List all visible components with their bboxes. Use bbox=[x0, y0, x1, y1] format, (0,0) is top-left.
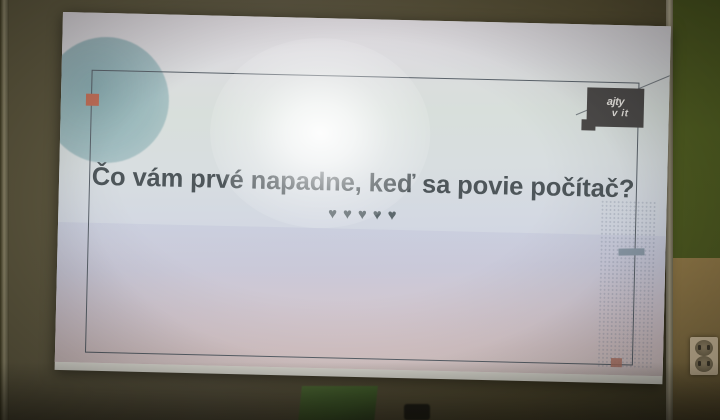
logo-line-1: ajty bbox=[607, 96, 625, 107]
heart-icon: ♥ bbox=[343, 207, 352, 222]
heart-icon: ♥ bbox=[387, 208, 396, 223]
logo-line-2: v it bbox=[602, 108, 629, 119]
decorative-terracotta-square bbox=[86, 94, 99, 106]
decorative-blue-tab bbox=[618, 248, 644, 255]
outlet-pin-right bbox=[707, 345, 710, 350]
wall-upper-green-panel bbox=[672, 0, 720, 262]
photo-scene: ajty v it Čo vám prvé napadne, keď sa po… bbox=[0, 0, 720, 420]
brand-logo: ajty v it bbox=[586, 87, 644, 127]
projector-screen: ajty v it Čo vám prvé napadne, keď sa po… bbox=[55, 12, 671, 384]
presentation-slide: ajty v it Čo vám prvé napadne, keď sa po… bbox=[55, 12, 671, 376]
outlet-pin-left bbox=[698, 345, 701, 350]
lower-wall-shadow bbox=[0, 362, 720, 420]
heart-icon: ♥ bbox=[358, 207, 367, 222]
outlet-socket-top bbox=[695, 340, 713, 356]
heart-icon: ♥ bbox=[373, 207, 382, 222]
heart-icon: ♥ bbox=[328, 206, 337, 221]
wall-left-edge-strip bbox=[0, 0, 9, 420]
